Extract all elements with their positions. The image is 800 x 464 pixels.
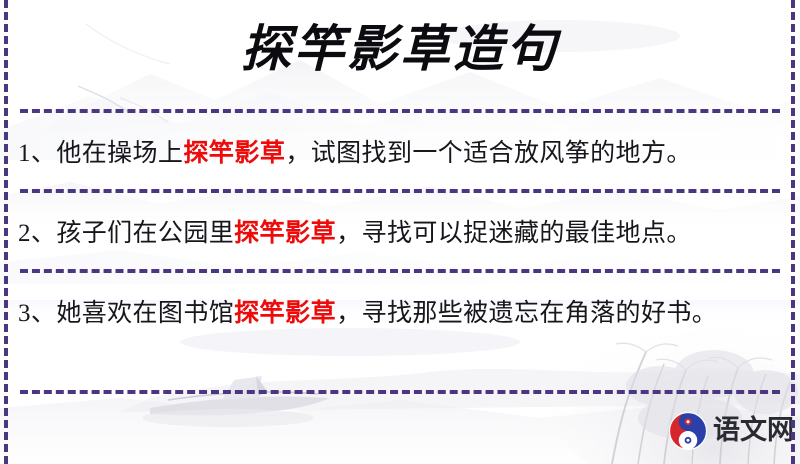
keyword-highlight-2: 探竿影草 xyxy=(234,218,336,247)
sentence-index-1: 1、 xyxy=(18,140,56,167)
sentence-before-1: 他在操场上 xyxy=(56,140,183,167)
divider-1 xyxy=(20,109,780,113)
sentence-index-2: 2、 xyxy=(18,220,56,247)
left-dashed-rail xyxy=(4,0,8,464)
sentence-index-3: 3、 xyxy=(18,300,56,327)
brand-name: 语文网 xyxy=(713,416,794,446)
sentence-item-3: 3、她喜欢在图书馆探竿影草，寻找那些被遗忘在角落的好书。 xyxy=(18,293,770,334)
sentence-item-2: 2、孩子们在公园里探竿影草，寻找可以捉迷藏的最佳地点。 xyxy=(18,213,770,254)
divider-2 xyxy=(20,189,780,193)
yinyang-fish-circle-icon xyxy=(668,411,708,451)
worksheet-page: 探竿影草造句 1、他在操场上探竿影草，试图找到一个适合放风筝的地方。 2、孩子们… xyxy=(0,0,800,464)
sentence-after-3: ，寻找那些被遗忘在角落的好书。 xyxy=(336,300,717,327)
sentence-after-1: ，试图找到一个适合放风筝的地方。 xyxy=(285,140,691,167)
sentence-before-3: 她喜欢在图书馆 xyxy=(56,300,234,327)
divider-3 xyxy=(20,269,780,273)
divider-4 xyxy=(20,390,780,394)
right-dashed-rail xyxy=(791,0,795,464)
keyword-highlight-3: 探竿影草 xyxy=(234,298,336,327)
keyword-highlight-1: 探竿影草 xyxy=(183,138,285,167)
sentence-item-1: 1、他在操场上探竿影草，试图找到一个适合放风筝的地方。 xyxy=(18,133,770,174)
page-title: 探竿影草造句 xyxy=(0,18,800,80)
watermark-logo: 语文网 xyxy=(668,408,794,454)
sentence-before-2: 孩子们在公园里 xyxy=(56,220,234,247)
sentence-after-2: ，寻找可以捉迷藏的最佳地点。 xyxy=(336,220,692,247)
